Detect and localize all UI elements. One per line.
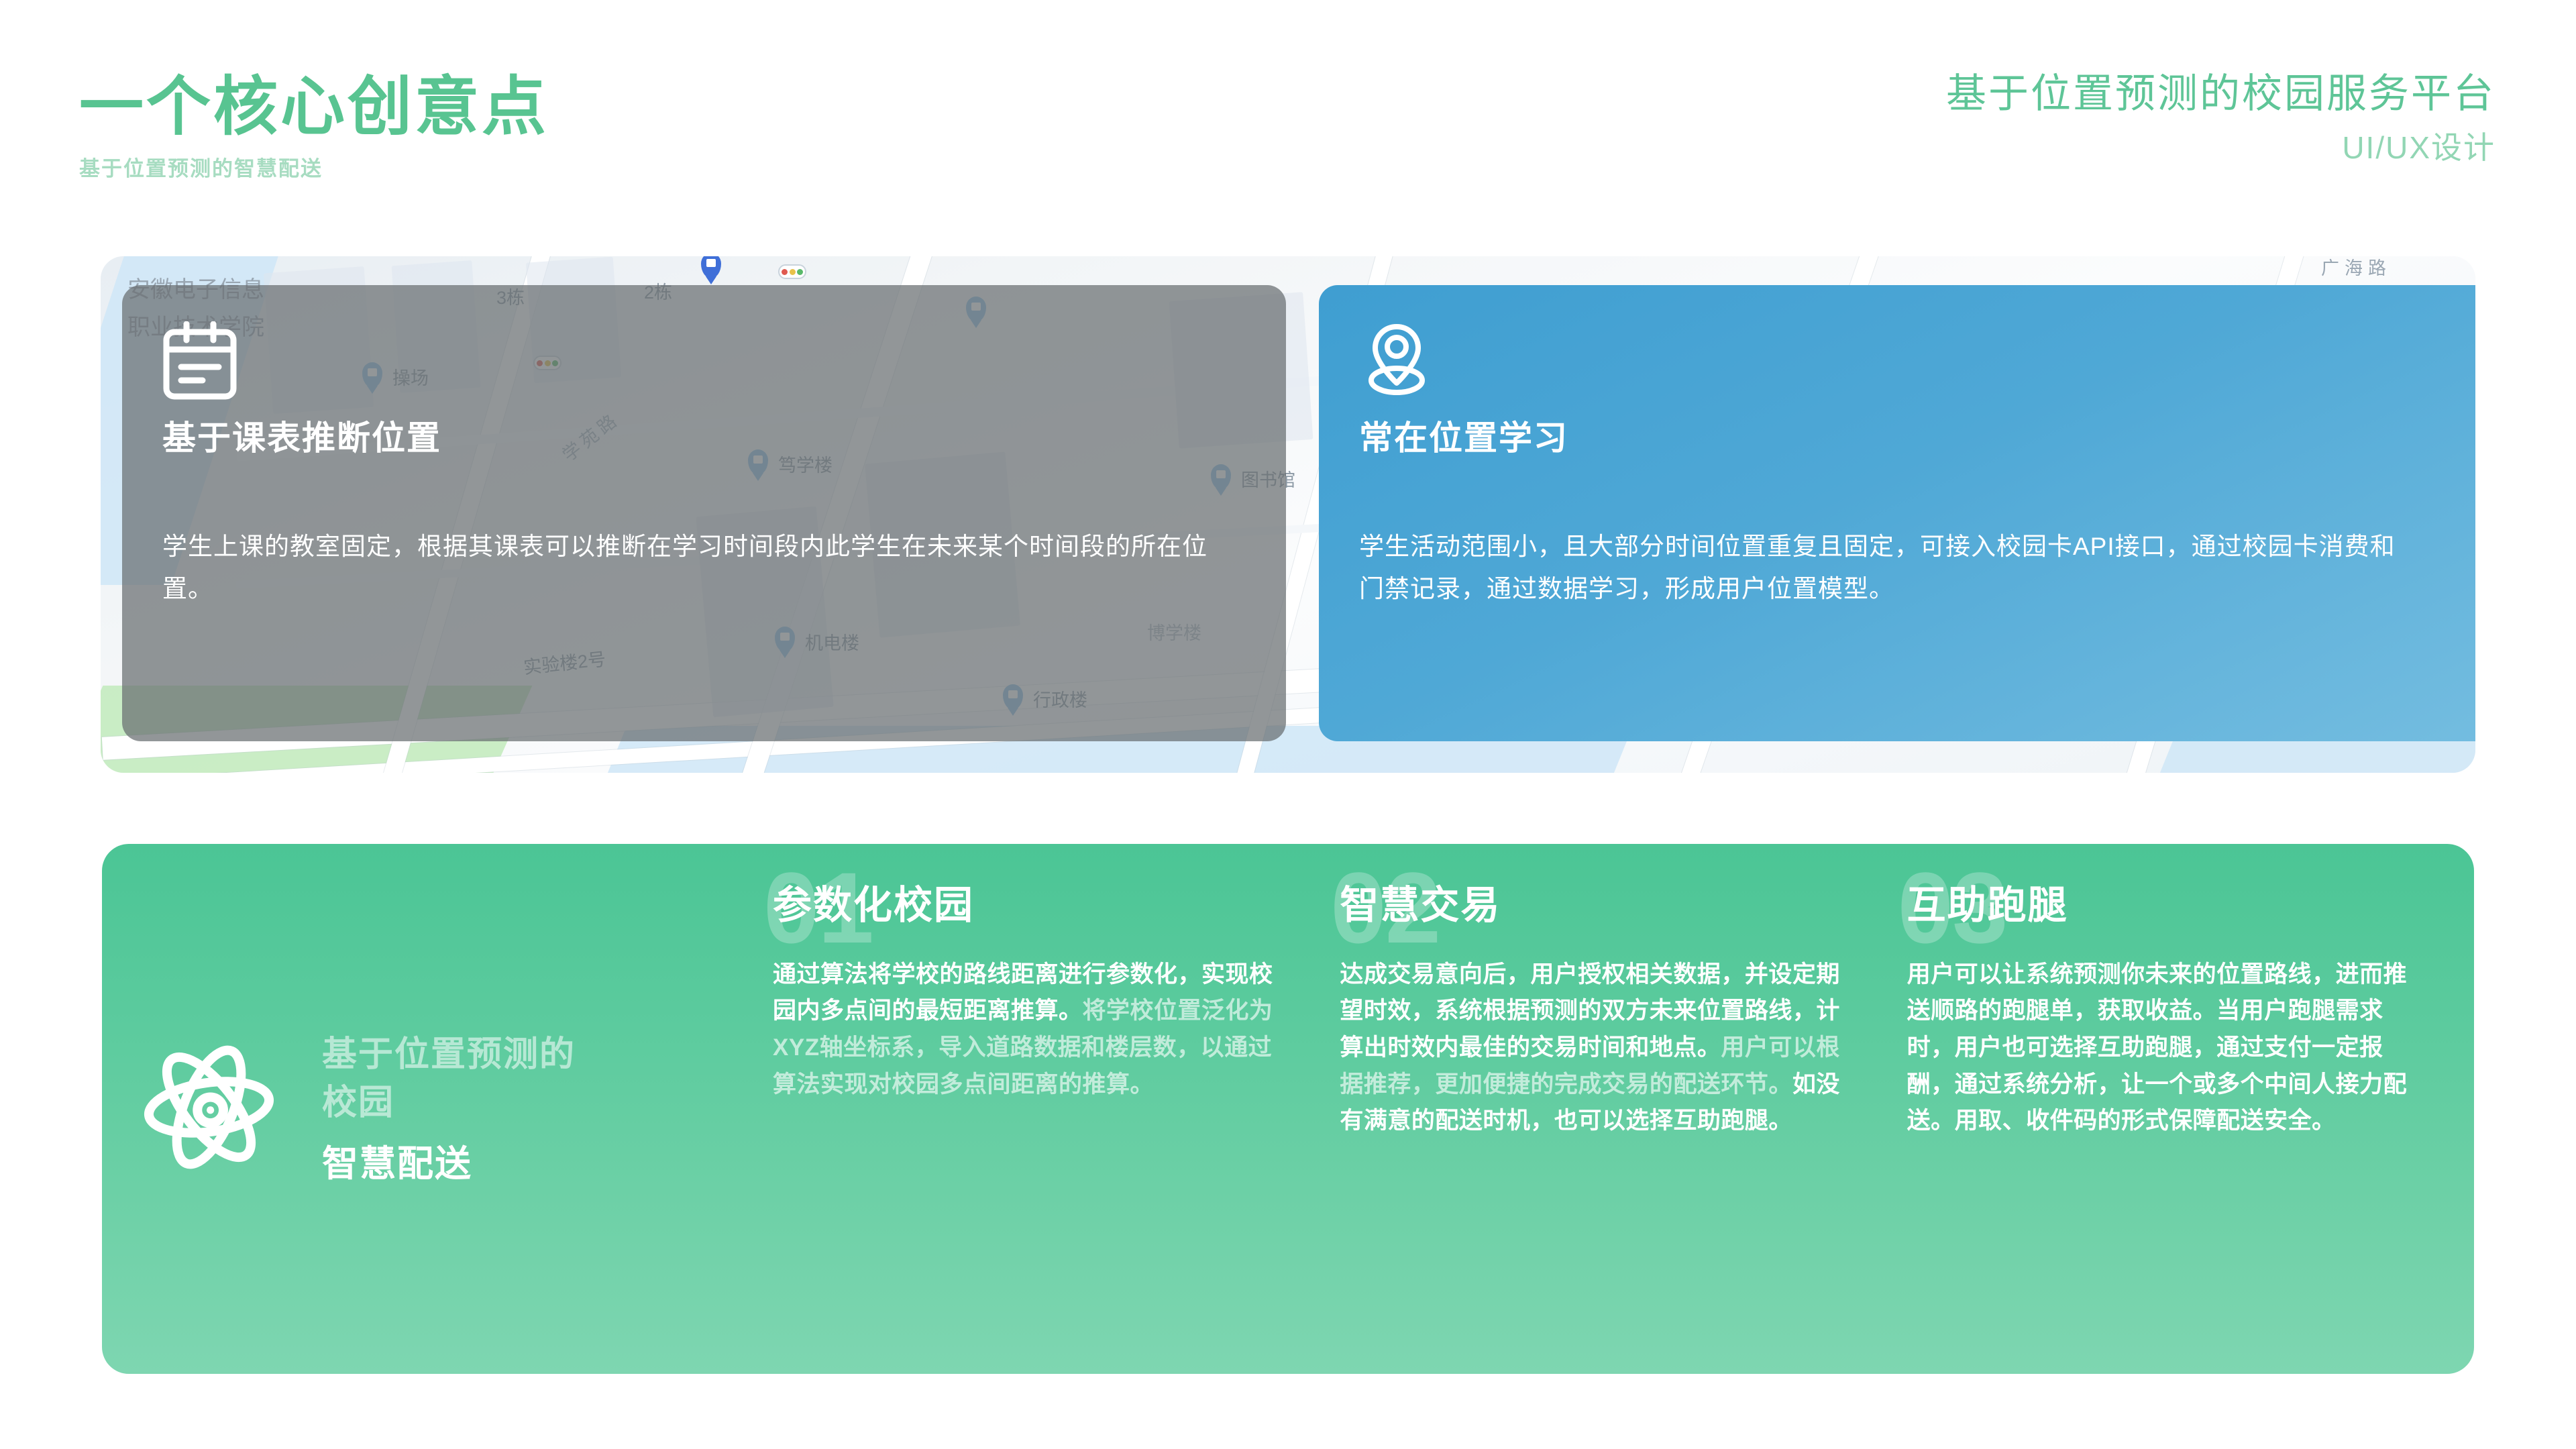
summary-label-line1: 基于位置预测的	[322, 1031, 576, 1079]
feature-card-body: 学生活动范围小，且大部分时间位置重复且固定，可接入校园卡API接口，通过校园卡消…	[1359, 525, 2406, 610]
summary-columns: 01 参数化校园 通过算法将学校的路线距离进行参数化，实现校园内多点间的最短距离…	[773, 844, 2474, 1374]
summary-column-03[interactable]: 03 互助跑腿 用户可以让系统预测你未来的位置路线，进而推送顺路的跑腿单，获取收…	[1907, 844, 2474, 1374]
column-title: 互助跑腿	[1907, 884, 2427, 927]
header-right-block: 基于位置预测的校园服务平台 UI/UX设计	[1946, 70, 2495, 168]
column-body: 用户可以让系统预测你未来的位置路线，进而推送顺路的跑腿单，获取收益。当用户跑腿需…	[1907, 957, 2427, 1140]
project-name: 基于位置预测的校园服务平台	[1946, 70, 2495, 118]
slide-root: 一个核心创意点 基于位置预测的智慧配送 基于位置预测的校园服务平台 UI/UX设…	[0, 0, 2576, 1449]
summary-panel-label: 基于位置预测的 校园 智慧配送	[322, 1031, 576, 1187]
feature-card-title: 基于课表推断位置	[162, 419, 1246, 458]
header-left-block: 一个核心创意点 基于位置预测的智慧配送	[79, 72, 549, 182]
summary-panel: 基于位置预测的 校园 智慧配送 01 参数化校园 通过算法将学校的路线距离进行参…	[102, 844, 2474, 1374]
feature-card-title: 常在位置学习	[1359, 419, 2463, 458]
page-subtitle: 基于位置预测的智慧配送	[79, 152, 549, 182]
column-body: 达成交易意向后，用户授权相关数据，并设定期望时效，系统根据预测的双方未来位置路线…	[1340, 957, 1860, 1140]
feature-card-schedule[interactable]: 基于课表推断位置 学生上课的教室固定，根据其课表可以推断在学习时间段内此学生在未…	[122, 285, 1286, 741]
calendar-icon	[162, 321, 1246, 402]
column-title: 智慧交易	[1340, 884, 1860, 927]
map-section: 安徽电子信息 职业技术学院 3栋 2栋 操场 学苑路 笃学楼 图书馆 机电楼 实…	[101, 256, 2475, 773]
page-header: 一个核心创意点 基于位置预测的智慧配送 基于位置预测的校园服务平台 UI/UX设…	[0, 0, 2576, 221]
feature-card-location-learning[interactable]: 常在位置学习 学生活动范围小，且大部分时间位置重复且固定，可接入校园卡API接口…	[1319, 285, 2475, 741]
feature-card-body: 学生上课的教室固定，根据其课表可以推断在学习时间段内此学生在未来某个时间段的所在…	[162, 525, 1236, 610]
summary-label-line2: 校园	[322, 1079, 576, 1128]
summary-column-02[interactable]: 02 智慧交易 达成交易意向后，用户授权相关数据，并设定期望时效，系统根据预测的…	[1340, 844, 1907, 1374]
column-body-bright: 用户可以让系统预测你未来的位置路线，进而推送顺路的跑腿单，获取收益。当用户跑腿需…	[1907, 961, 2408, 1134]
map-traffic-signal-1	[778, 264, 806, 279]
summary-panel-identity: 基于位置预测的 校园 智慧配送	[102, 844, 773, 1374]
page-title: 一个核心创意点	[79, 72, 549, 142]
atom-icon	[137, 1035, 291, 1183]
summary-label-strong: 智慧配送	[322, 1134, 576, 1187]
column-body: 通过算法将学校的路线距离进行参数化，实现校园内多点间的最短距离推算。将学校位置泛…	[773, 957, 1293, 1103]
location-pin-icon	[1359, 321, 2463, 402]
project-discipline: UI/UX设计	[1946, 123, 2495, 168]
column-title: 参数化校园	[773, 884, 1293, 927]
map-label-guanghai-rd: 广海路	[2321, 256, 2392, 280]
summary-column-01[interactable]: 01 参数化校园 通过算法将学校的路线距离进行参数化，实现校园内多点间的最短距离…	[773, 844, 1340, 1374]
